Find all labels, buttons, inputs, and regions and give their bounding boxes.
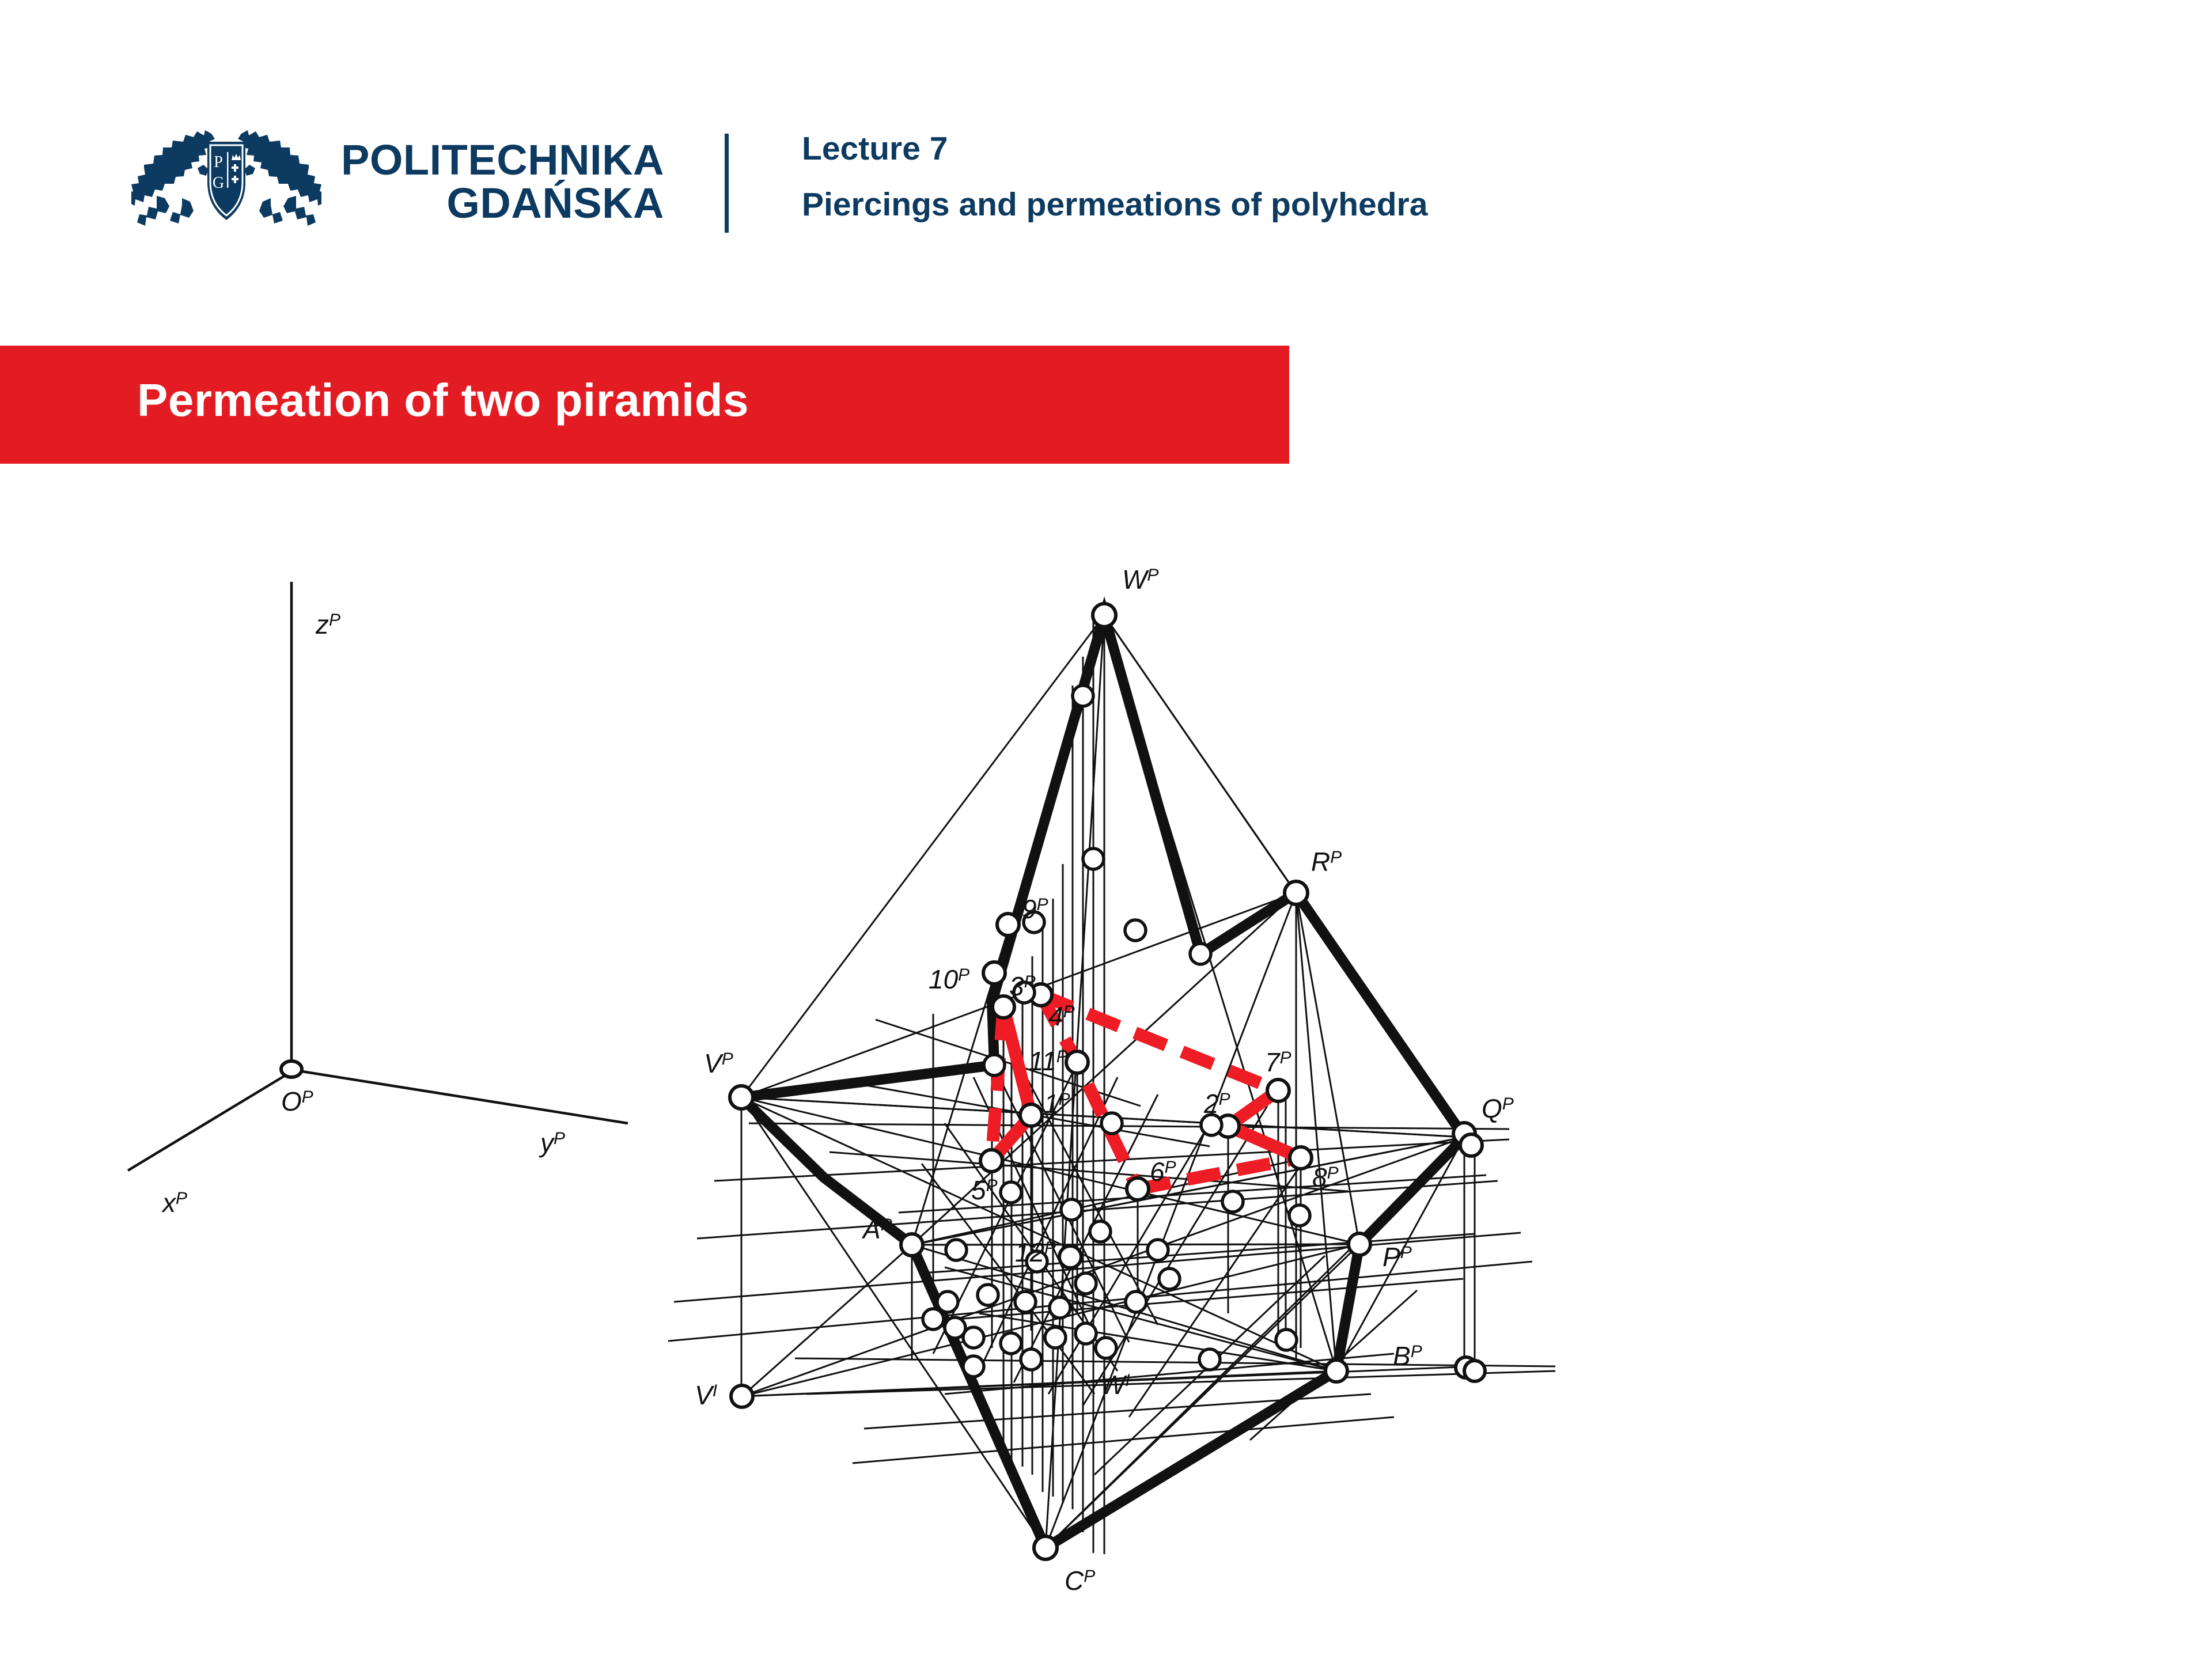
lecture-info: Lecture 7 Piercings and permeations of p… [802,132,1427,221]
node-R-p [1285,881,1308,904]
drawing-canvas: zP yP xP OP [0,495,2212,1659]
university-name: POLITECHNIKA GDAŃSKA [341,138,664,225]
node-11-p [1066,1051,1088,1073]
node-8-p [1290,1147,1312,1169]
y-axis [295,1070,628,1123]
label-10-p: 10P [929,964,969,994]
x-axis [128,1074,288,1171]
node-9-p [997,914,1019,935]
university-line-1: POLITECHNIKA [341,138,664,181]
node-aux-31 [1276,1330,1297,1350]
intersection-polygon [991,995,1301,1189]
node-aux-16 [1126,1291,1146,1312]
label-12-p: 12P [1015,1237,1056,1267]
node-aux-32 [1159,1268,1180,1289]
node-V-i [731,1385,753,1407]
label-W-p: WP [1122,565,1158,594]
node-W-p [1093,604,1116,627]
node-aux-29 [1199,1349,1220,1370]
pg-crest-icon: P G [131,128,321,235]
header-divider [725,134,729,233]
node-aux-33 [1222,1191,1243,1212]
label-P-p: PP [1382,1242,1412,1272]
label-1-p: 1P [1044,1089,1070,1119]
node-aux-7 [984,1055,1005,1075]
pyramid-outline-primary [741,615,1464,1548]
x-axis-label: xP [161,1188,187,1218]
label-Q-p: QP [1482,1093,1514,1123]
node-aux-15 [1075,1273,1096,1294]
node-A-p [901,1234,923,1256]
node-5-p [980,1150,1002,1172]
node-aux-35 [1021,1349,1041,1370]
label-V-i: VI [695,1380,717,1410]
section-title: Permeation of two piramids [137,377,749,423]
y-axis-label: yP [539,1128,565,1158]
node-aux-25 [1001,1333,1021,1354]
university-logo: P G POLITECHNIKA GDAŃSKA [131,128,664,235]
node-aux-27 [1075,1323,1096,1344]
label-4-p: 4P [1048,1001,1075,1031]
node-C-p [1034,1536,1057,1559]
node-aux-24 [963,1327,984,1348]
node-aux-30 [963,1356,984,1377]
node-aux-28 [1096,1338,1116,1358]
node-12-p [1059,1246,1081,1268]
node-B-aux-b [1464,1361,1485,1381]
lecture-title: Piercings and permeations of polyhedra [802,188,1427,221]
coordinate-axes: zP yP xP OP [128,582,628,1218]
label-7-p: 7P [1265,1047,1291,1077]
node-aux-34 [946,1240,967,1260]
node-aux-17 [978,1285,998,1305]
node-10-p [983,962,1005,984]
node-1-p [1020,1104,1042,1126]
node-aux-19 [1050,1297,1070,1318]
label-R-p: RP [1311,847,1342,877]
slide-header: P G POLITECHNIKA GDAŃSKA Lecture 7 [0,0,2212,323]
pyramid-one-silhouette [741,615,1464,1548]
node-aux-9 [1101,1113,1122,1134]
label-8-p: 8P [1312,1162,1339,1192]
origin-label: OP [281,1086,313,1116]
node-aux-12 [1090,1221,1111,1242]
label-A-p: AP [861,1214,892,1244]
label-V-p: VP [704,1048,733,1078]
label-5-p: 5P [971,1175,998,1205]
node-aux-13 [1289,1205,1310,1226]
node-aux-6 [1190,944,1211,964]
node-7-p [1267,1080,1289,1101]
label-B-p: BP [1393,1341,1422,1371]
label-6-p: 6P [1150,1157,1176,1187]
z-axis-label: zP [315,609,340,639]
node-aux-22 [923,1309,944,1330]
node-aux-20 [1147,1240,1168,1260]
node-Q-p-b [1460,1134,1482,1156]
node-aux-2 [1083,849,1104,869]
node-aux-1 [1073,685,1093,706]
origin-node [281,1061,302,1077]
slide-root: P G POLITECHNIKA GDAŃSKA Lecture 7 [0,0,2212,1659]
node-aux-18 [1015,1291,1036,1312]
node-aux-21 [937,1291,958,1312]
crest-letter-p: P [214,153,223,171]
lecture-number: Lecture 7 [802,132,1427,165]
university-line-2: GDAŃSKA [341,181,664,225]
node-aux-10 [1061,1199,1082,1220]
label-C-p: CP [1065,1566,1095,1596]
node-aux-26 [1045,1327,1066,1348]
node-P-p [1349,1233,1370,1255]
node-aux-4 [1125,920,1146,941]
node-6-p [1127,1178,1149,1200]
node-aux-11 [1001,1182,1021,1203]
label-W-i: WI [1100,1370,1130,1400]
technical-drawing: zP yP xP OP [0,495,2212,1659]
node-B-p [1325,1360,1347,1382]
crest-letter-g: G [213,174,224,192]
node-V-p [730,1086,753,1109]
